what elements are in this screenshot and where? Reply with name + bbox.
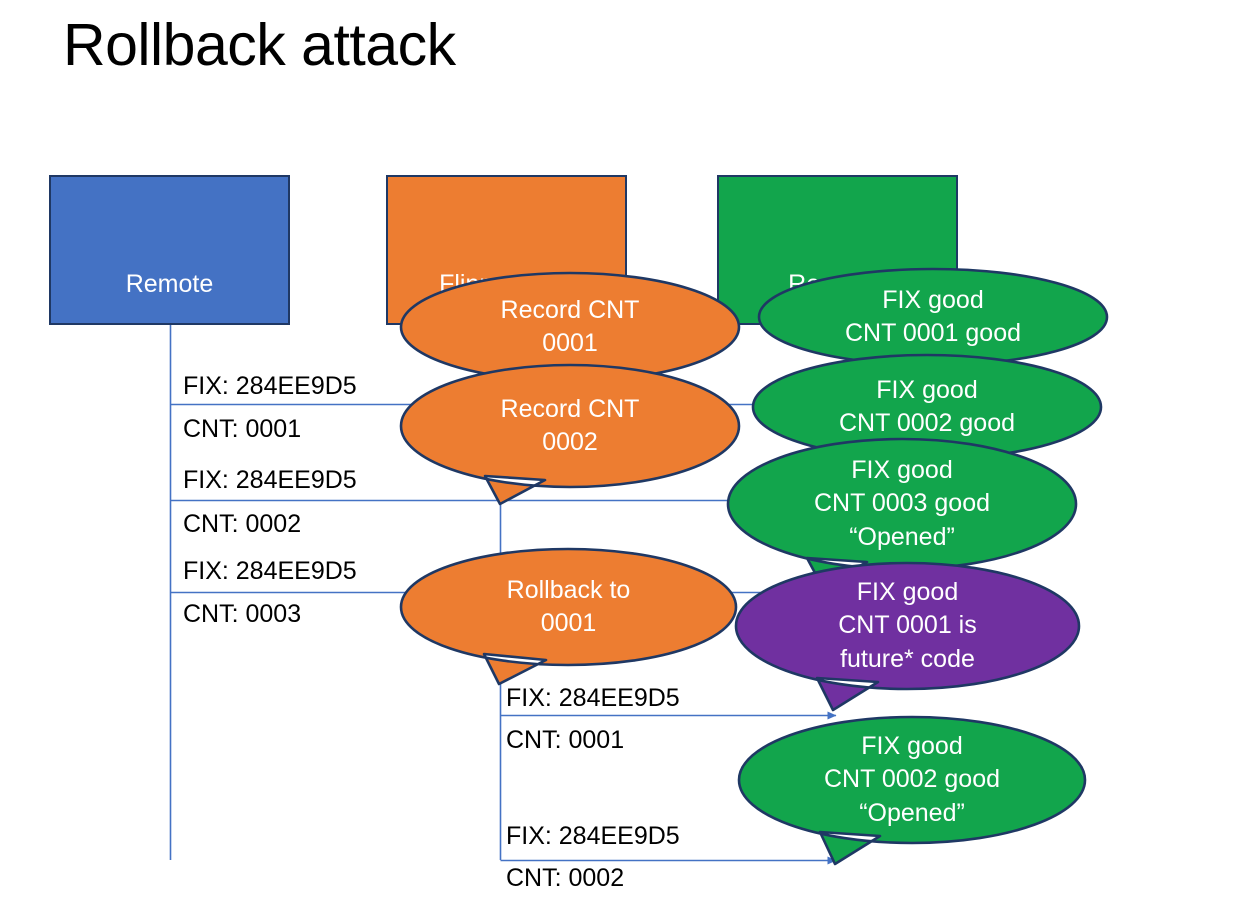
callout-fix-good-cnt-0001-good[interactable]: FIX good CNT 0001 good: [758, 268, 1108, 366]
message-cnt-3: CNT: 0003: [183, 600, 301, 629]
message-cnt-1: CNT: 0001: [183, 415, 301, 444]
message-cnt-4: CNT: 0001: [506, 726, 624, 755]
message-cnt-5: CNT: 0002: [506, 864, 624, 893]
message-fix-2: FIX: 284EE9D5: [183, 466, 357, 495]
callout-record-cnt-0002[interactable]: Record CNT 0002: [400, 364, 740, 488]
slide-canvas: Rollback attack Remote Flipper Zero Rece…: [0, 0, 1233, 898]
callout-fix-good-cnt-0001-future-code[interactable]: FIX good CNT 0001 is future* code: [735, 562, 1080, 690]
message-cnt-2: CNT: 0002: [183, 510, 301, 539]
message-fix-4: FIX: 284EE9D5: [506, 684, 680, 713]
callout-fix-good-cnt-0002-good-opened[interactable]: FIX good CNT 0002 good “Opened”: [738, 716, 1086, 844]
callout-fix-good-cnt-0003-good-opened[interactable]: FIX good CNT 0003 good “Opened”: [727, 438, 1077, 570]
callout-rollback-to-0001[interactable]: Rollback to 0001: [400, 548, 737, 666]
actor-box-remote[interactable]: Remote: [49, 175, 290, 325]
message-fix-5: FIX: 284EE9D5: [506, 822, 680, 851]
message-fix-1: FIX: 284EE9D5: [183, 372, 357, 401]
actor-label-remote: Remote: [126, 271, 214, 299]
message-fix-3: FIX: 284EE9D5: [183, 557, 357, 586]
